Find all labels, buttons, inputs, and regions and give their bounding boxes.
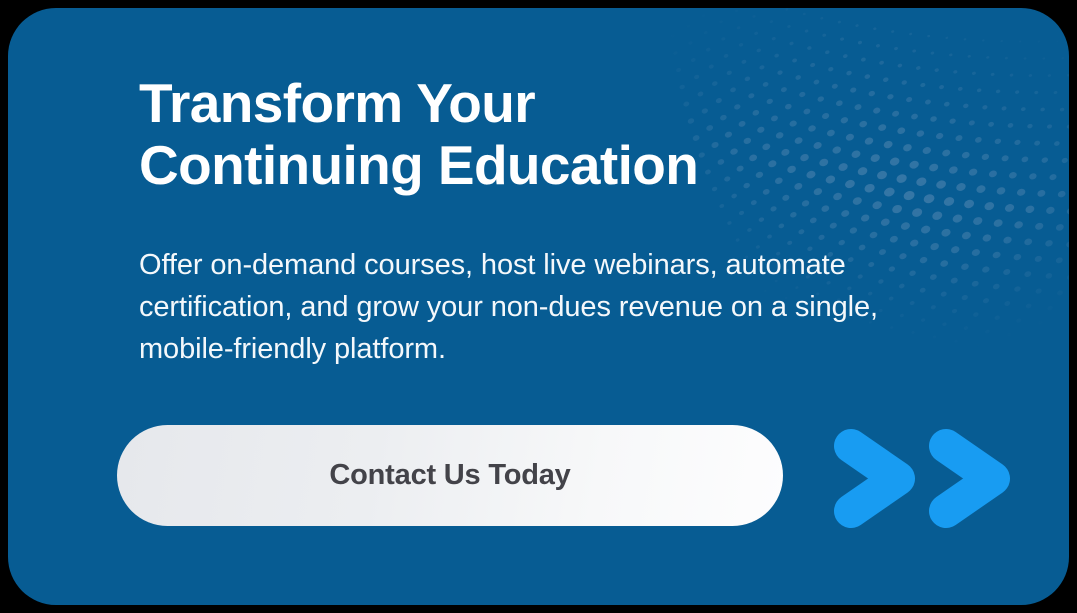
page-subtitle: Offer on-demand courses, host live webin… bbox=[139, 244, 959, 370]
contact-us-button[interactable]: Contact Us Today bbox=[117, 425, 783, 526]
page-title: Transform Your Continuing Education bbox=[139, 72, 698, 196]
cta-card: Transform Your Continuing Education Offe… bbox=[8, 8, 1069, 605]
